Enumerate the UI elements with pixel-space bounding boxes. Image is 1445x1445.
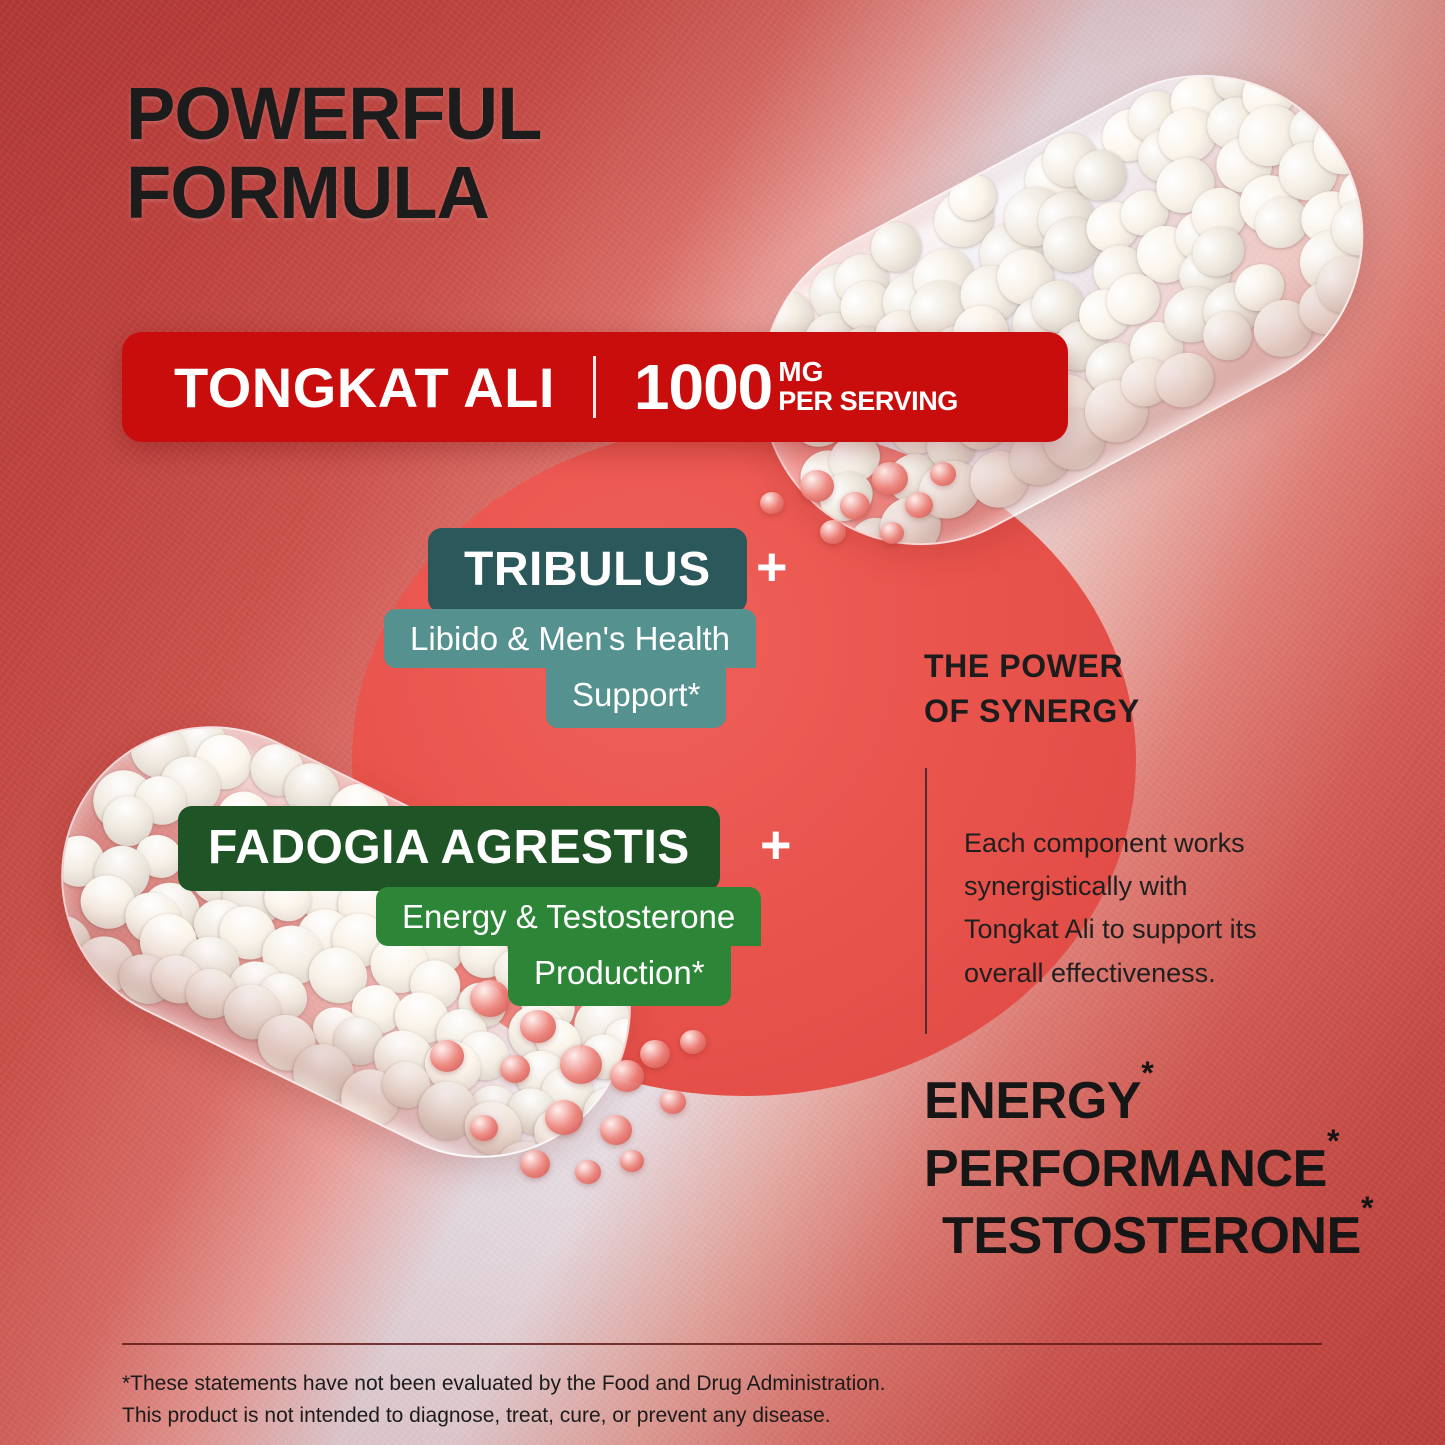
product-infographic: POWERFUL FORMULA TONGKAT ALI 1000 MG PER…	[0, 0, 1445, 1445]
tablet	[660, 1090, 686, 1114]
dosage-group: 1000 MG PER SERVING	[634, 350, 958, 424]
headline-line-1: POWERFUL	[126, 74, 541, 153]
dosage-unit: MG	[778, 356, 823, 387]
benefit-item: TESTOSTERONE*	[942, 1203, 1373, 1271]
benefit-asterisk: *	[1361, 1190, 1373, 1226]
tablet	[680, 1030, 706, 1054]
synergy-heading: THE POWER OF SYNERGY	[924, 644, 1140, 735]
tablet	[905, 492, 933, 518]
ingredient-name-tribulus: TRIBULUS	[428, 528, 747, 613]
benefit-line-2: Support*	[546, 666, 726, 728]
ingredient-benefit-fadogia: Energy & Testosterone Production*	[178, 887, 761, 1006]
ingredient-benefit-tribulus: Libido & Men's Health Support*	[428, 609, 756, 728]
synergy-divider	[925, 768, 927, 1034]
dosage-basis: PER SERVING	[778, 386, 958, 416]
footer-divider	[122, 1343, 1322, 1345]
tablet	[560, 1045, 602, 1084]
ingredient-card-tribulus: TRIBULUS Libido & Men's Health Support*	[428, 528, 756, 728]
dosage-amount: 1000	[634, 350, 772, 424]
benefit-asterisk: *	[1327, 1123, 1339, 1159]
synergy-body-text: Each component works synergistically wit…	[964, 822, 1282, 995]
synergy-heading-line-1: THE POWER	[924, 644, 1140, 689]
benefit-line-2: Production*	[508, 944, 731, 1006]
tablet	[575, 1160, 601, 1184]
dosage-unit-group: MG PER SERVING	[778, 358, 958, 415]
disclaimer-line-2: This product is not intended to diagnose…	[122, 1400, 885, 1432]
tablet	[600, 1115, 632, 1145]
benefit-item: PERFORMANCE*	[924, 1136, 1373, 1204]
plus-icon: +	[760, 818, 792, 872]
disclaimer-line-1: *These statements have not been evaluate…	[122, 1368, 885, 1400]
headline-line-2: FORMULA	[126, 153, 541, 232]
benefit-line-1: Energy & Testosterone	[376, 887, 761, 946]
tablet	[930, 462, 956, 486]
main-ingredient-name: TONGKAT ALI	[174, 355, 555, 420]
tablet	[820, 520, 846, 544]
tablet	[840, 492, 870, 520]
page-title: POWERFUL FORMULA	[126, 74, 541, 232]
plus-icon: +	[756, 540, 788, 594]
benefits-list: ENERGY* PERFORMANCE* TESTOSTERONE*	[924, 1068, 1373, 1271]
benefit-asterisk: *	[1141, 1055, 1153, 1091]
main-ingredient-banner: TONGKAT ALI 1000 MG PER SERVING	[122, 332, 1068, 442]
fda-disclaimer: *These statements have not been evaluate…	[122, 1368, 885, 1432]
benefit-line-1: Libido & Men's Health	[384, 609, 756, 668]
benefit-item: ENERGY*	[924, 1068, 1373, 1136]
banner-divider	[593, 356, 596, 418]
ingredient-card-fadogia: FADOGIA AGRESTIS Energy & Testosterone P…	[178, 806, 761, 1006]
tablet	[520, 1150, 550, 1178]
tablet	[430, 1040, 464, 1072]
benefit-label: TESTOSTERONE	[942, 1207, 1361, 1265]
tablet	[610, 1060, 644, 1092]
tablet	[500, 1055, 530, 1083]
tablet	[470, 1115, 498, 1141]
tablet	[800, 470, 834, 502]
tablet	[640, 1040, 670, 1068]
tablet	[545, 1100, 583, 1135]
synergy-heading-line-2: OF SYNERGY	[924, 689, 1140, 734]
benefit-label: PERFORMANCE	[924, 1140, 1327, 1198]
ingredient-name-fadogia: FADOGIA AGRESTIS	[178, 806, 720, 891]
benefit-label: ENERGY	[924, 1072, 1141, 1130]
